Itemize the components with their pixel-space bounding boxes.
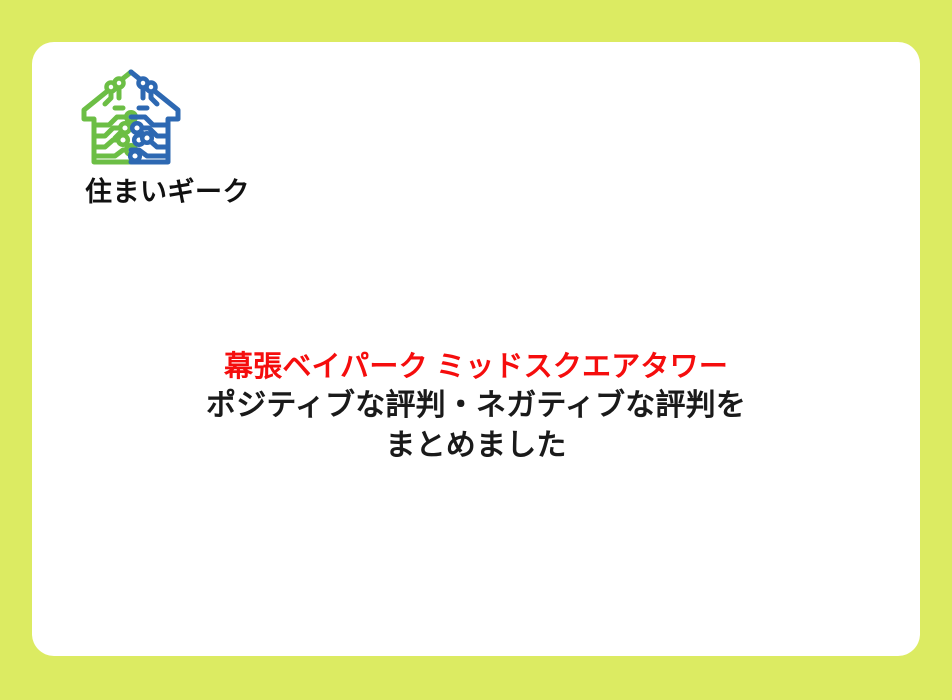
headline-line-1: 幕張ベイパーク ミッドスクエアタワー: [32, 348, 920, 386]
brand-wordmark: 住まいギーク: [85, 176, 265, 208]
content-card: 住まいギーク 幕張ベイパーク ミッドスクエアタワー ポジティブな評判・ネガティブ…: [32, 42, 920, 656]
brand-logo: 住まいギーク: [75, 62, 265, 208]
headline-line-2: ポジティブな評判・ネガティブな評判を: [32, 386, 920, 426]
circuit-house-logo-icon: [75, 62, 187, 170]
slide-canvas: 住まいギーク 幕張ベイパーク ミッドスクエアタワー ポジティブな評判・ネガティブ…: [0, 0, 952, 700]
headline-line-3: まとめました: [32, 426, 920, 466]
headline-block: 幕張ベイパーク ミッドスクエアタワー ポジティブな評判・ネガティブな評判を まと…: [32, 348, 920, 465]
